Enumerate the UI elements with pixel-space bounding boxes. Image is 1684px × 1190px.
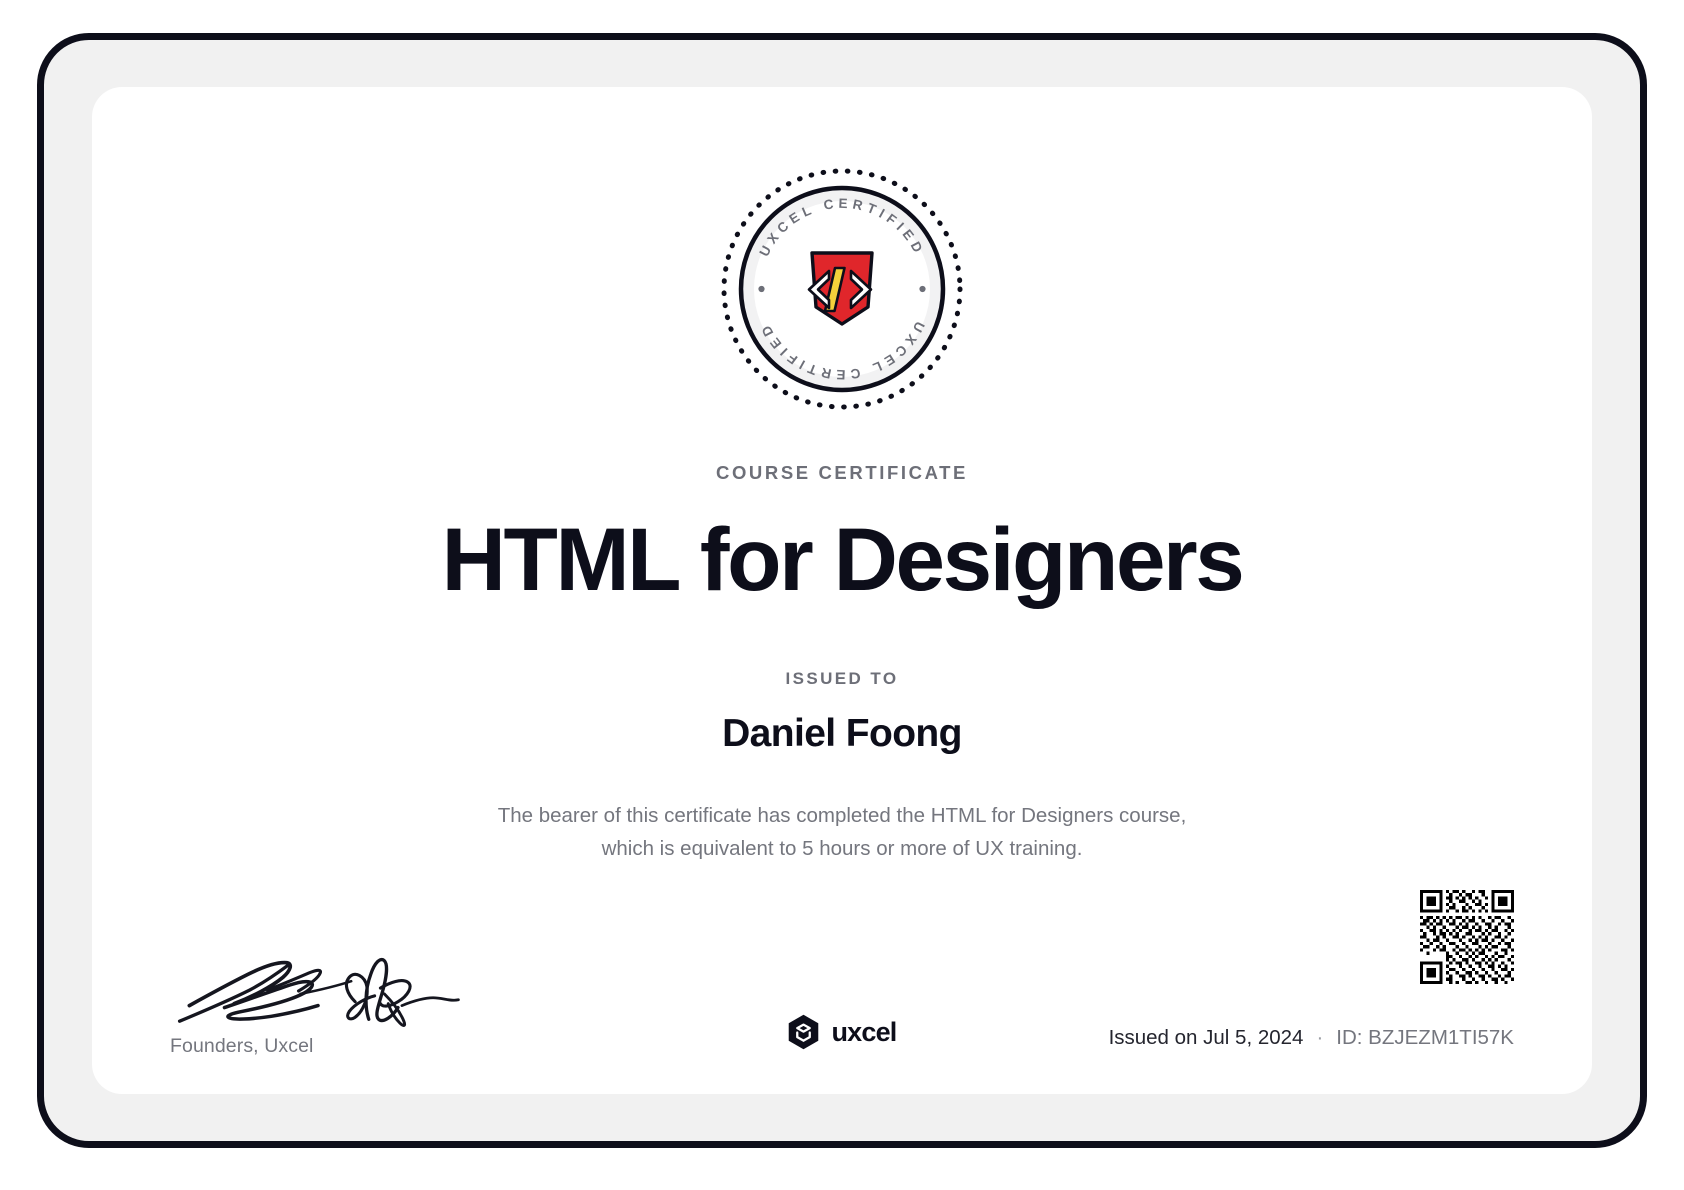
recipient-name: Daniel Foong	[92, 712, 1592, 756]
meta-separator: ·	[1303, 1026, 1336, 1050]
certificate-footer: Founders, Uxcel uxcel Issued on Jul 5, 2…	[92, 904, 1592, 1094]
description-line-2: which is equivalent to 5 hours or more o…	[92, 832, 1592, 865]
course-certificate-eyebrow: COURSE CERTIFICATE	[92, 462, 1592, 484]
brand-wordmark: uxcel	[831, 1017, 896, 1048]
description-line-1: The bearer of this certificate has compl…	[92, 799, 1592, 832]
certificate-meta: Issued on Jul 5, 2024 · ID: BZJEZM1TI57K	[1109, 1026, 1514, 1050]
badge-separator-dot-left	[758, 286, 764, 292]
uxcel-certified-badge: UXCEL CERTIFIED UXCEL CERTIFIED	[718, 165, 966, 413]
certificate-frame: UXCEL CERTIFIED UXCEL CERTIFIED	[37, 33, 1647, 1148]
certificate-description: The bearer of this certificate has compl…	[92, 799, 1592, 865]
uxcel-hexagon-cube-logo-icon	[787, 1014, 820, 1050]
certificate-id: ID: BZJEZM1TI57K	[1336, 1026, 1514, 1050]
issued-to-label: ISSUED TO	[92, 669, 1592, 689]
badge-separator-dot-right	[919, 286, 925, 292]
badge-container: UXCEL CERTIFIED UXCEL CERTIFIED	[92, 165, 1592, 413]
qr-code-icon[interactable]	[1420, 890, 1514, 984]
page-title: HTML for Designers	[92, 510, 1592, 610]
certificate-card: UXCEL CERTIFIED UXCEL CERTIFIED	[92, 87, 1592, 1094]
issue-date: Issued on Jul 5, 2024	[1109, 1026, 1304, 1050]
